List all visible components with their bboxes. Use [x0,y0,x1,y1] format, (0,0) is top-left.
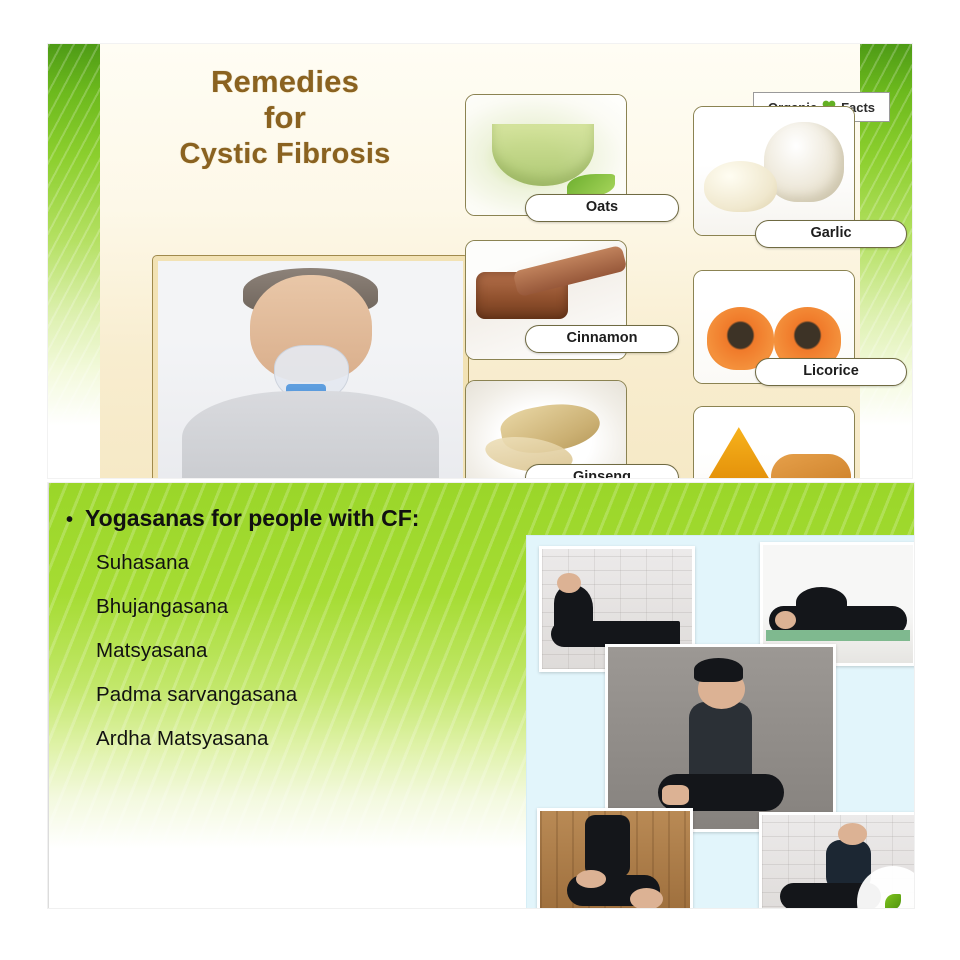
turmeric-powder-photo [693,406,855,478]
asana-item-5: Ardha Matsyasana [96,727,269,751]
title-line-1: Remedies [120,64,450,100]
bullet-icon: • [66,510,73,530]
remedy-card-curcumin: Curcumin [693,406,853,478]
remedy-card-ginseng: Ginseng [465,380,625,478]
yoga-content: • Yogasanas for people with CF: Suhasana… [48,483,914,908]
remedy-label-cinnamon: Cinnamon [525,325,679,353]
remedy-label-garlic: Garlic [755,220,907,248]
slide-yogasanas: • Yogasanas for people with CF: Suhasana… [48,483,914,908]
asana-item-1: Suhasana [96,551,189,575]
asana-item-2: Bhujangasana [96,595,228,619]
yoga-heading-text: Yogasanas for people with CF: [85,505,419,532]
remedy-card-oats: Oats [465,94,625,214]
lotus-meditation-pose-photo [605,644,836,832]
green-gradient-strip-left [48,44,100,478]
nebulizer-photo [153,256,468,478]
patient-photo-card [153,256,458,478]
title-line-2: for [120,100,450,136]
remedy-card-licorice: Licorice [693,270,853,382]
yoga-photo-collage [526,535,914,908]
remedy-label-oats: Oats [525,194,679,222]
remedy-card-garlic: Garlic [693,106,853,234]
slide-remedies: Remedies for Cystic Fibrosis Organic Fac… [48,44,912,478]
remedies-title: Remedies for Cystic Fibrosis [120,64,450,172]
title-line-3: Cystic Fibrosis [120,136,450,172]
remedy-label-licorice: Licorice [755,358,907,386]
yoga-heading: • Yogasanas for people with CF: [66,505,419,532]
remedy-card-cinnamon: Cinnamon [465,240,625,358]
garlic-bulb-photo [693,106,855,236]
remedy-label-ginseng: Ginseng [525,464,679,478]
shoulderstand-pose-photo [537,808,693,908]
asana-item-3: Matsyasana [96,639,208,663]
asana-item-4: Padma sarvangasana [96,683,297,707]
